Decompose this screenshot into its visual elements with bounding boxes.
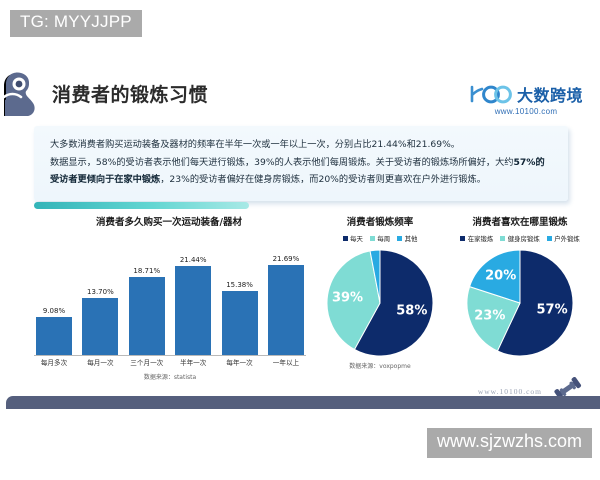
100-logo-icon [469, 84, 513, 105]
slide-header: 消费者的锻炼习惯 大数跨境 www.10100.com [0, 68, 600, 118]
bar-value-label: 15.38% [226, 281, 253, 289]
pie-value-label: 23% [474, 309, 505, 324]
legend-item: 户外锻炼 [547, 234, 580, 243]
charts-row: 消费者多久购买一次运动装备/器材 9.08%13.70%18.71%21.44%… [0, 214, 600, 394]
summary-p2-part-a: 数据显示，58%的受访者表示他们每天进行锻炼，39%的人表示他们每周锻炼。关于受… [50, 157, 513, 168]
source-note-exercise-frequency: 数据来源：voxpopme [306, 361, 454, 370]
pie-exercise-location: 57%23%20% [466, 249, 574, 357]
legend-label: 户外锻炼 [554, 234, 580, 243]
bar-rect [222, 291, 258, 355]
legend-swatch [370, 236, 375, 241]
pie-value-label: 58% [396, 304, 427, 319]
bar-column: 9.08% [34, 238, 74, 355]
bar-plot-area: 9.08%13.70%18.71%21.44%15.38%21.69% [34, 238, 306, 356]
bar-value-label: 21.44% [180, 256, 207, 264]
bar-value-label: 18.71% [133, 267, 160, 275]
legend-item: 其他 [397, 234, 417, 243]
site-watermark: www.sjzwzhs.com [427, 428, 592, 458]
legend-item: 在家锻炼 [460, 234, 493, 243]
bar-column: 21.44% [173, 238, 213, 355]
bar-rect [36, 317, 72, 355]
bar-x-tick: 每年一次 [220, 357, 260, 367]
legend-item: 健身房锻炼 [500, 234, 539, 243]
bar-x-tick: 每月一次 [80, 357, 120, 367]
telegram-watermark: TG: MYYJJPP [10, 10, 142, 37]
bar-x-tick: 半年一次 [173, 357, 213, 367]
bar-value-label: 13.70% [87, 288, 114, 296]
bar-rect [82, 298, 118, 355]
footer-bar [6, 396, 600, 409]
bar-value-label: 9.08% [43, 307, 65, 315]
pie-value-label: 57% [537, 303, 568, 318]
brand-name: 大数跨境 [517, 82, 583, 106]
pie-value-label: 20% [485, 269, 516, 284]
brand-url: www.10100.com [495, 107, 558, 116]
pie-value-label: 39% [332, 290, 363, 305]
brand-logo: 大数跨境 www.10100.com [464, 82, 588, 116]
bar-x-tick: 每月多次 [34, 357, 74, 367]
summary-p2-part-c: ，23%的受访者偏好在健身房锻炼，而20%的受访者则更喜欢在户外进行锻炼。 [160, 174, 486, 185]
slide-card: 消费者的锻炼习惯 大数跨境 www.10100.com 大多数消费者购买运动装备… [0, 62, 600, 410]
bar-x-tick: 三个月一次 [127, 357, 167, 367]
chart-title-purchase-frequency: 消费者多久购买一次运动装备/器材 [24, 214, 314, 228]
summary-paragraph-1: 大多数消费者购买运动装备及器材的频率在半年一次或一年以上一次，分别占比21.44… [50, 136, 552, 153]
legend-label: 每周 [377, 234, 390, 243]
legend-swatch [547, 236, 552, 241]
chart-exercise-frequency: 消费者锻炼频率 每天每周其他 58%39% 数据来源：voxpopme [306, 214, 454, 394]
legend-item: 每天 [343, 234, 363, 243]
bar-rect [175, 266, 211, 355]
legend-swatch [397, 236, 402, 241]
bar-x-axis-labels: 每月多次每月一次三个月一次半年一次每年一次一年以上 [34, 357, 306, 367]
bar-rect [129, 277, 165, 355]
summary-text-block: 大多数消费者购买运动装备及器材的频率在半年一次或一年以上一次，分别占比21.44… [34, 126, 568, 201]
source-note-purchase-frequency: 数据来源：statista [34, 372, 306, 381]
legend-label: 健身房锻炼 [508, 234, 540, 243]
bar-rect [268, 265, 304, 355]
bar-column: 21.69% [266, 238, 306, 355]
legend-swatch [460, 236, 465, 241]
legend-item: 每周 [370, 234, 390, 243]
chart-purchase-frequency: 消费者多久购买一次运动装备/器材 9.08%13.70%18.71%21.44%… [24, 214, 314, 394]
bar-column: 13.70% [80, 238, 120, 355]
legend-swatch [343, 236, 348, 241]
legend-swatch [500, 236, 505, 241]
chart-title-exercise-frequency: 消费者锻炼频率 [306, 214, 454, 228]
legend-label: 在家锻炼 [468, 234, 494, 243]
legend-label: 每天 [350, 234, 363, 243]
legend-exercise-location: 在家锻炼健身房锻炼户外锻炼 [446, 234, 594, 243]
teal-divider [34, 202, 249, 209]
legend-label: 其他 [405, 234, 418, 243]
bar-column: 15.38% [220, 238, 260, 355]
chart-exercise-location: 消费者喜欢在哪里锻炼 在家锻炼健身房锻炼户外锻炼 57%23%20% [446, 214, 594, 394]
chart-title-exercise-location: 消费者喜欢在哪里锻炼 [446, 214, 594, 228]
legend-exercise-frequency: 每天每周其他 [306, 234, 454, 243]
slide-footer-url: www.10100.com [478, 387, 542, 396]
bar-value-label: 21.69% [273, 255, 300, 263]
pie-exercise-frequency: 58%39% [326, 249, 434, 357]
bar-x-tick: 一年以上 [266, 357, 306, 367]
flexed-arm-icon [2, 72, 48, 116]
summary-paragraph-2: 数据显示，58%的受访者表示他们每天进行锻炼，39%的人表示他们每周锻炼。关于受… [50, 154, 552, 188]
bar-column: 18.71% [127, 238, 167, 355]
page-title: 消费者的锻炼习惯 [52, 80, 208, 107]
